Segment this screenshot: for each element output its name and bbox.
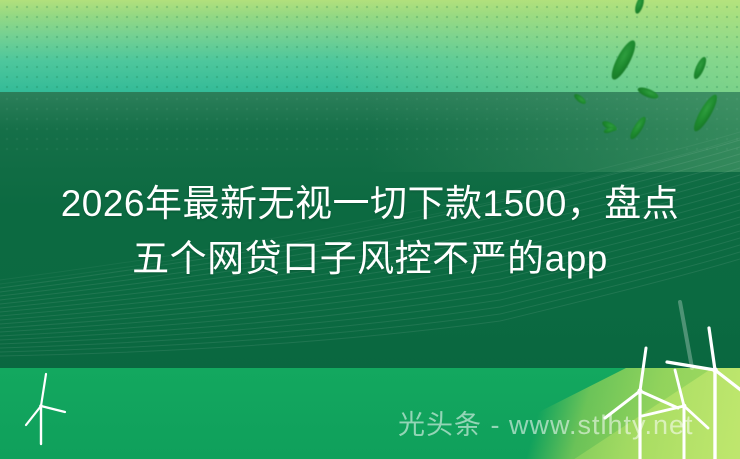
article-banner-image: 2026年最新无视一切下款1500，盘点 五个网贷口子风控不严的app 光头条 … <box>0 0 740 459</box>
wind-turbine-icon <box>24 372 70 450</box>
watermark-text: 光头条 - www.stlhty.net <box>398 409 694 441</box>
page-title: 2026年最新无视一切下款1500，盘点 五个网贷口子风控不严的app <box>0 176 740 286</box>
turbine-blade-streak <box>640 300 740 370</box>
